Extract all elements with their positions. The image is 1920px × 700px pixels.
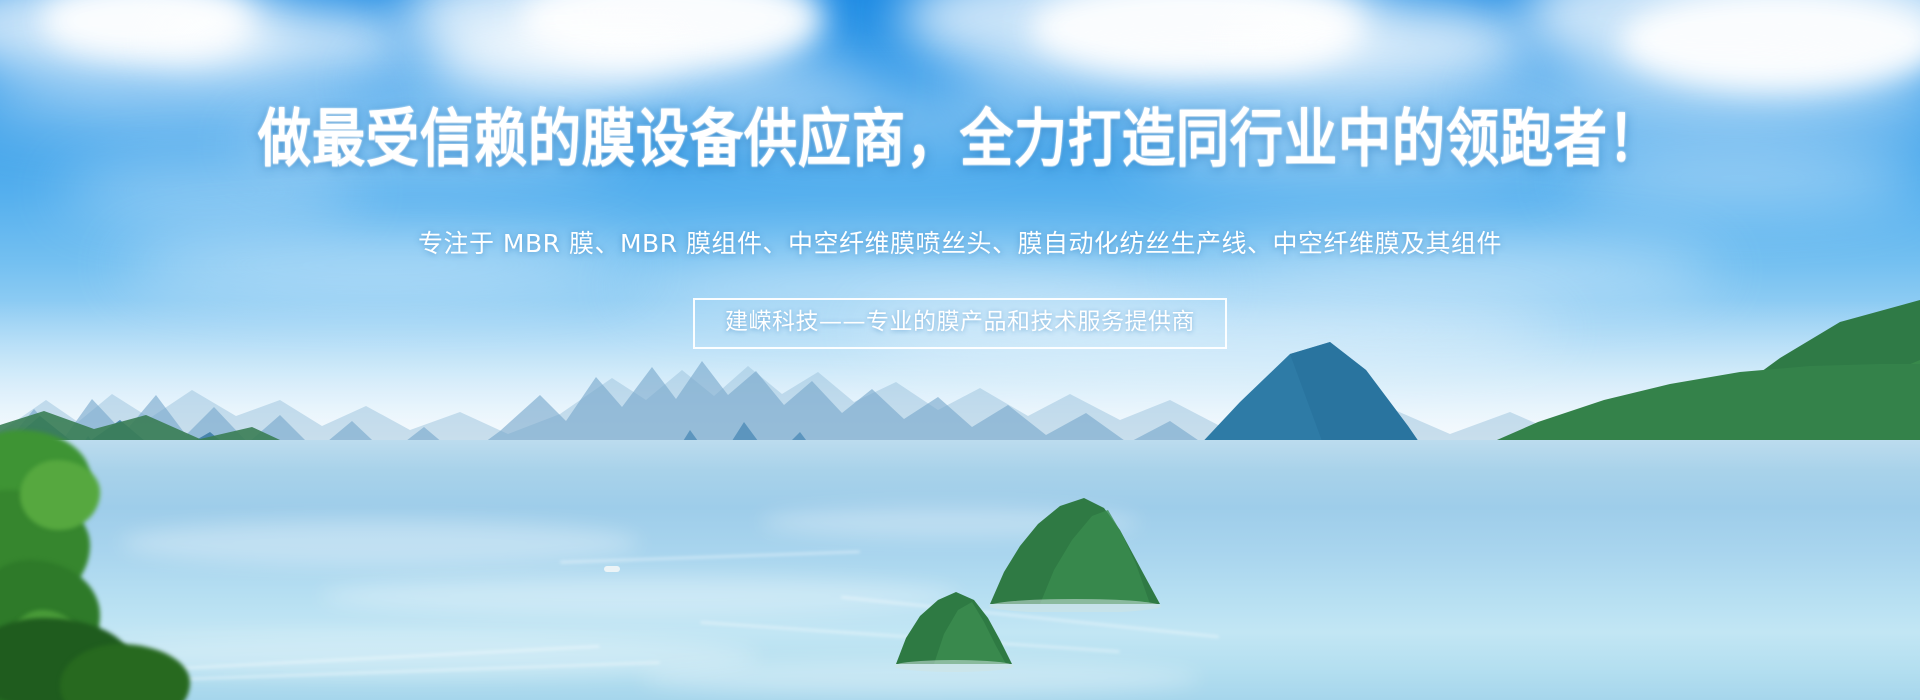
foreground-foliage-bottom-left xyxy=(0,618,200,700)
banner-tagline-text: 建嵘科技——专业的膜产品和技术服务提供商 xyxy=(725,309,1195,335)
hero-banner: 做最受信赖的膜设备供应商，全力打造同行业中的领跑者！ 专注于 MBR 膜、MBR… xyxy=(0,0,1920,700)
banner-tagline-box: 建嵘科技——专业的膜产品和技术服务提供商 xyxy=(693,298,1227,349)
island-lower xyxy=(888,580,1020,672)
banner-headline: 做最受信赖的膜设备供应商，全力打造同行业中的领跑者！ xyxy=(0,108,1920,171)
boat xyxy=(604,566,620,572)
banner-subheadline: 专注于 MBR 膜、MBR 膜组件、中空纤维膜喷丝头、膜自动化纺丝生产线、中空纤… xyxy=(0,229,1920,259)
